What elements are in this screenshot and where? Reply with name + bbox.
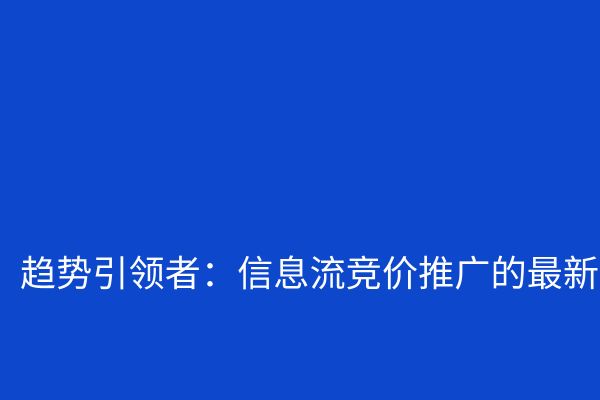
page-title: 趋势引领者：信息流竞价推广的最新 趋势与方式探索 (0, 144, 600, 400)
banner-canvas: 趋势引领者：信息流竞价推广的最新 趋势与方式探索 (0, 0, 600, 400)
page-title-line-1: 趋势引领者：信息流竞价推广的最新 (20, 248, 580, 300)
